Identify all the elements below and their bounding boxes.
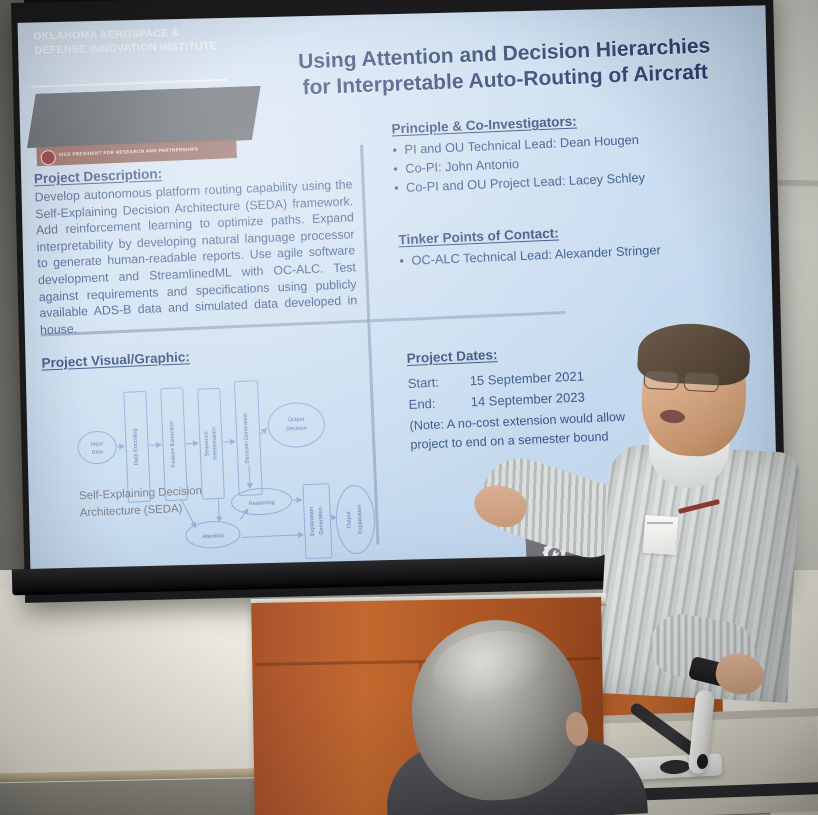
org-banner-text: OKLAHOMA AEROSPACE & DEFENSE INNOVATION …	[33, 26, 243, 58]
svg-text:Data: Data	[92, 449, 104, 455]
presenter-glasses	[644, 370, 737, 392]
svg-text:Output: Output	[346, 511, 353, 528]
tinker-contacts-block: Tinker Points of Contact: OC-ALC Technic…	[398, 217, 749, 270]
project-description-body: Develop autonomous platform routing capa…	[34, 176, 358, 338]
svg-text:Explanation: Explanation	[309, 507, 316, 536]
svg-text:Explanation: Explanation	[357, 505, 364, 534]
svg-text:Feature Extraction: Feature Extraction	[169, 421, 177, 467]
slide-title: Using Attention and Decision Hierarchies…	[250, 31, 760, 103]
svg-text:Reasoning: Reasoning	[249, 500, 275, 507]
presenter-name-badge	[643, 515, 679, 555]
glasses-left-lens	[644, 370, 680, 391]
svg-text:Output: Output	[288, 417, 305, 424]
svg-text:Attention: Attention	[202, 533, 224, 540]
date-start-label: Start:	[407, 370, 470, 394]
glasses-right-lens	[683, 372, 719, 393]
presenter-name-badge-line	[647, 522, 673, 524]
investigators-block: Principle & Co-Investigators: PI and OU …	[391, 107, 744, 198]
svg-text:Decision Generation: Decision Generation	[243, 413, 251, 464]
svg-text:Data Encoding: Data Encoding	[132, 428, 140, 465]
svg-text:Sequence: Sequence	[204, 431, 211, 456]
investigators-list: PI and OU Technical Lead: Dean Hougen Co…	[392, 125, 744, 197]
photo-scene: OKLAHOMA AEROSPACE & DEFENSE INNOVATION …	[0, 0, 818, 815]
seda-diagram: Input Data Output Decision Attention Rea…	[66, 364, 379, 572]
date-end-label: End:	[408, 391, 471, 415]
project-description-block: Project Description: Develop autonomous …	[34, 158, 359, 338]
seda-caption: Self-Explaining Decision Architecture (S…	[79, 483, 215, 523]
svg-text:Interpretation: Interpretation	[211, 427, 218, 460]
date-end-value: 14 September 2023	[470, 386, 585, 412]
org-banner-rule	[31, 79, 227, 88]
seda-diagram-svg: Input Data Output Decision Attention Rea…	[66, 364, 379, 572]
svg-text:Decision: Decision	[286, 426, 307, 433]
svg-text:Input: Input	[91, 441, 104, 448]
svg-text:Generation: Generation	[318, 507, 325, 535]
